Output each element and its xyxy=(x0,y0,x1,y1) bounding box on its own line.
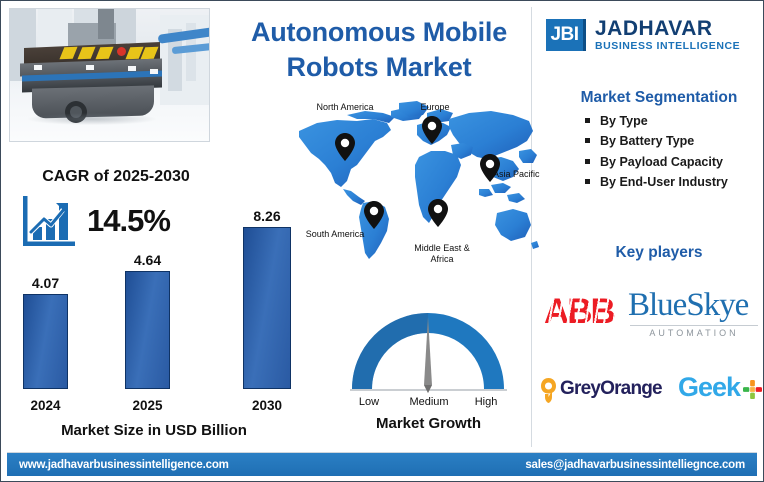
geek-plus-icon xyxy=(743,380,762,399)
map-label-asia-pacific: Asia Pacific xyxy=(493,169,553,180)
blueskye-rule xyxy=(630,325,758,326)
list-item: By Type xyxy=(585,111,761,131)
bar-value-2024: 4.07 xyxy=(23,275,68,291)
gauge-tick-low: Low xyxy=(348,396,390,408)
page-title: Autonomous Mobile Robots Market xyxy=(219,15,539,84)
key-players-row-1: ABB BlueSkye AUTOMATION xyxy=(536,289,761,351)
brand-tagline: BUSINESS INTELLIGENCE xyxy=(595,41,740,52)
bar-2025 xyxy=(125,271,170,389)
bar-category-2025: 2025 xyxy=(125,398,170,413)
map-label-europe: Europe xyxy=(403,102,467,113)
list-item: By Battery Type xyxy=(585,131,761,151)
gauge-tick-high: High xyxy=(464,396,508,408)
footer-email[interactable]: sales@jadhavarbusinessintelliegnce.com xyxy=(525,459,745,471)
greyorange-g-icon xyxy=(540,377,557,404)
footer-website[interactable]: www.jadhavarbusinessintelligence.com xyxy=(19,459,229,471)
bar-2030 xyxy=(243,227,291,389)
map-label-north-america: North America xyxy=(295,102,395,113)
gauge-tick-medium: Medium xyxy=(403,396,455,408)
bar-value-2030: 8.26 xyxy=(243,208,291,224)
cagr-label: CAGR of 2025-2030 xyxy=(21,168,211,186)
bar-category-2030: 2030 xyxy=(243,398,291,413)
market-size-bar-chart: 4.07 2024 4.64 2025 8.26 2030 Market Siz… xyxy=(9,191,319,441)
world-map: North America Europe Asia Pacific South … xyxy=(291,97,539,267)
abb-logo: ABB xyxy=(544,294,614,329)
map-label-south-america: South America xyxy=(293,229,377,240)
market-growth-gauge: Low Medium High Market Growth xyxy=(346,293,511,443)
geek-logo: Geek xyxy=(678,374,740,401)
brand-logo: JBI JADHAVAR BUSINESS INTELLIGENCE xyxy=(546,13,753,57)
map-pin-middle-east-africa xyxy=(428,199,448,227)
list-item: By End-User Industry xyxy=(585,172,761,192)
segmentation-list: By Type By Battery Type By Payload Capac… xyxy=(585,111,761,192)
gauge-title: Market Growth xyxy=(346,415,511,432)
key-players-row-2: GreyOrange Geek xyxy=(536,376,761,416)
key-players-title: Key players xyxy=(559,244,759,262)
world-map-svg xyxy=(291,97,539,267)
map-label-middle-east-africa: Middle East & Africa xyxy=(403,243,481,266)
list-item: By Payload Capacity xyxy=(585,152,761,172)
segmentation-title: Market Segmentation xyxy=(559,89,759,107)
bar-chart-title: Market Size in USD Billion xyxy=(9,422,299,439)
greyorange-logo: GreyOrange xyxy=(560,379,662,398)
gauge-svg xyxy=(346,293,511,395)
footer-bar: www.jadhavarbusinessintelligence.com sal… xyxy=(7,453,757,476)
brand-logo-mark: JBI xyxy=(546,19,586,51)
infographic-canvas: Autonomous Mobile Robots Market JBI JADH… xyxy=(0,0,764,482)
bar-2024 xyxy=(23,294,68,389)
bar-value-2025: 4.64 xyxy=(125,252,170,268)
robot-photo xyxy=(9,8,210,142)
blueskye-logo: BlueSkye xyxy=(628,289,748,322)
bar-category-2024: 2024 xyxy=(23,398,68,413)
blueskye-logo-sub: AUTOMATION xyxy=(630,328,758,338)
brand-name: JADHAVAR xyxy=(595,18,740,39)
